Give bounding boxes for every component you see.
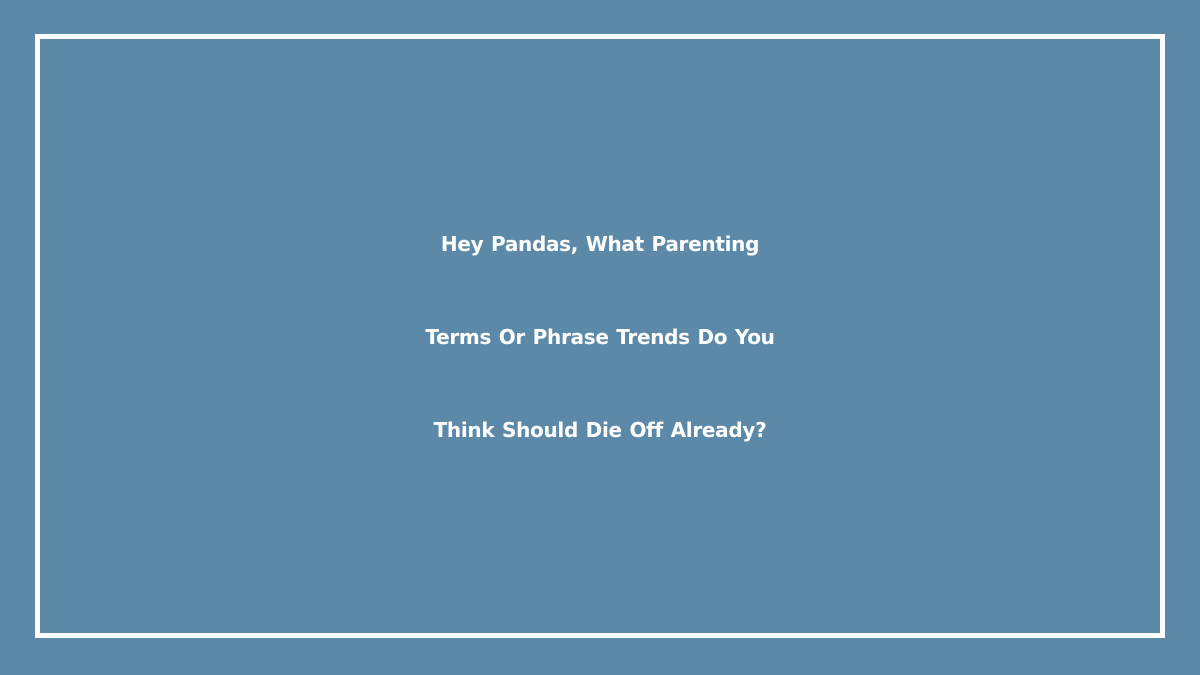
title-card: Hey Pandas, What Parenting Terms Or Phra… [0, 0, 1200, 675]
page-title: Hey Pandas, What Parenting Terms Or Phra… [60, 198, 1140, 477]
title-line-2: Terms Or Phrase Trends Do You [60, 291, 1140, 384]
headline-container: Hey Pandas, What Parenting Terms Or Phra… [0, 0, 1200, 675]
title-line-3: Think Should Die Off Already? [60, 384, 1140, 477]
title-line-1: Hey Pandas, What Parenting [60, 198, 1140, 291]
